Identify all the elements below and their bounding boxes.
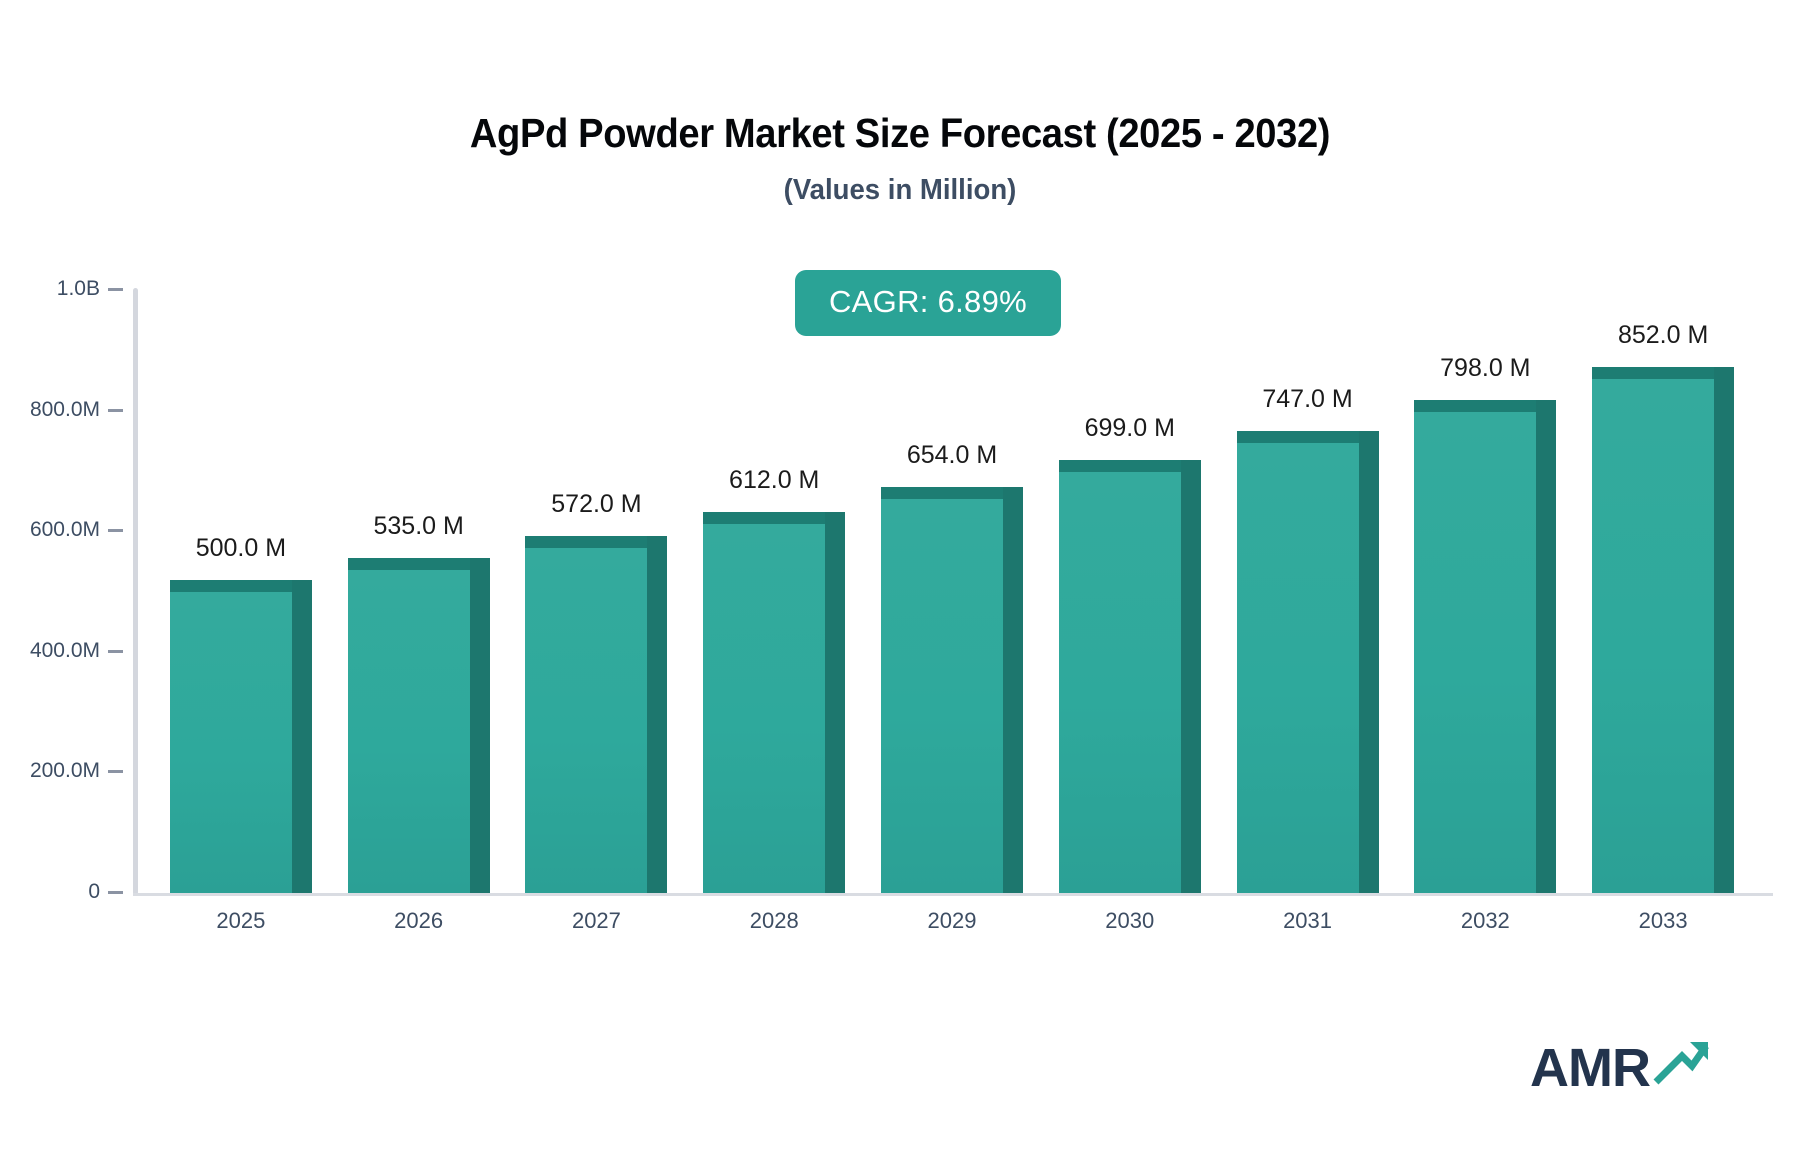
bar-top-face — [170, 580, 312, 592]
bar-top-face — [348, 558, 490, 570]
y-axis-tick-label: 800.0M — [30, 398, 100, 422]
bar-column[interactable] — [525, 536, 667, 893]
bar-side-face — [825, 512, 845, 893]
bar-value-label: 654.0 M — [852, 441, 1052, 470]
bar-front-face — [703, 524, 825, 893]
bar-value-label: 852.0 M — [1563, 321, 1763, 350]
bar-value-label: 612.0 M — [674, 466, 874, 495]
x-axis-tick-label: 2030 — [1050, 908, 1210, 934]
bar-side-face — [647, 536, 667, 893]
bar-column[interactable] — [348, 558, 490, 893]
x-axis-tick-label: 2026 — [339, 908, 499, 934]
y-axis-tick-label: 600.0M — [30, 518, 100, 542]
bar-front-face — [1237, 443, 1359, 893]
bar-value-label: 798.0 M — [1385, 354, 1585, 383]
bar-top-face — [1059, 460, 1201, 472]
bar-value-label: 747.0 M — [1208, 385, 1408, 414]
amr-logo: AMR — [1530, 1038, 1710, 1095]
bar-side-face — [292, 580, 312, 894]
bar-value-label: 572.0 M — [496, 490, 696, 519]
chart-plot-area: 1.0B800.0M600.0M400.0M200.0M0 500.0 M535… — [0, 0, 1800, 1156]
bar-side-face — [1714, 367, 1734, 893]
y-axis — [133, 288, 138, 895]
bar-front-face — [881, 499, 1003, 893]
bar-top-face — [1592, 367, 1734, 379]
x-axis — [133, 893, 1773, 896]
y-axis-tick-label: 200.0M — [30, 759, 100, 783]
bar-top-face — [703, 512, 845, 524]
x-axis-tick-label: 2029 — [872, 908, 1032, 934]
bar-value-label: 535.0 M — [319, 512, 519, 541]
bar-top-face — [525, 536, 667, 548]
bar-value-label: 500.0 M — [141, 534, 341, 563]
amr-logo-text: AMR — [1530, 1041, 1650, 1095]
bar-side-face — [1359, 431, 1379, 893]
bar-side-face — [1536, 400, 1556, 893]
y-axis-tick-mark — [108, 770, 123, 773]
growth-arrow-icon — [1652, 1038, 1710, 1091]
bar-front-face — [1414, 412, 1536, 893]
bar-side-face — [1003, 487, 1023, 893]
y-axis-tick-mark — [108, 891, 123, 894]
bar-column[interactable] — [881, 487, 1023, 893]
x-axis-tick-label: 2027 — [516, 908, 676, 934]
x-axis-tick-label: 2028 — [694, 908, 854, 934]
x-axis-tick-label: 2033 — [1583, 908, 1743, 934]
bar-front-face — [348, 570, 470, 893]
bar-top-face — [881, 487, 1023, 499]
y-axis-tick-mark — [108, 529, 123, 532]
bar-front-face — [525, 548, 647, 893]
y-axis-tick-mark — [108, 650, 123, 653]
bar-value-label: 699.0 M — [1030, 414, 1230, 443]
bar-column[interactable] — [170, 580, 312, 894]
y-axis-tick-label: 1.0B — [57, 277, 100, 301]
y-axis-tick-mark — [108, 288, 123, 291]
bar-front-face — [1592, 379, 1714, 893]
bar-column[interactable] — [1059, 460, 1201, 893]
y-axis-tick-label: 0 — [88, 880, 100, 904]
x-axis-tick-label: 2031 — [1228, 908, 1388, 934]
y-axis-tick-label: 400.0M — [30, 639, 100, 663]
bar-column[interactable] — [703, 512, 845, 893]
x-axis-tick-label: 2025 — [161, 908, 321, 934]
bar-front-face — [1059, 472, 1181, 893]
bar-column[interactable] — [1414, 400, 1556, 893]
bar-top-face — [1414, 400, 1556, 412]
bar-column[interactable] — [1592, 367, 1734, 893]
bar-column[interactable] — [1237, 431, 1379, 893]
y-axis-tick-mark — [108, 409, 123, 412]
x-axis-tick-label: 2032 — [1405, 908, 1565, 934]
bar-front-face — [170, 592, 292, 894]
bar-side-face — [470, 558, 490, 893]
bar-side-face — [1181, 460, 1201, 893]
bar-top-face — [1237, 431, 1379, 443]
